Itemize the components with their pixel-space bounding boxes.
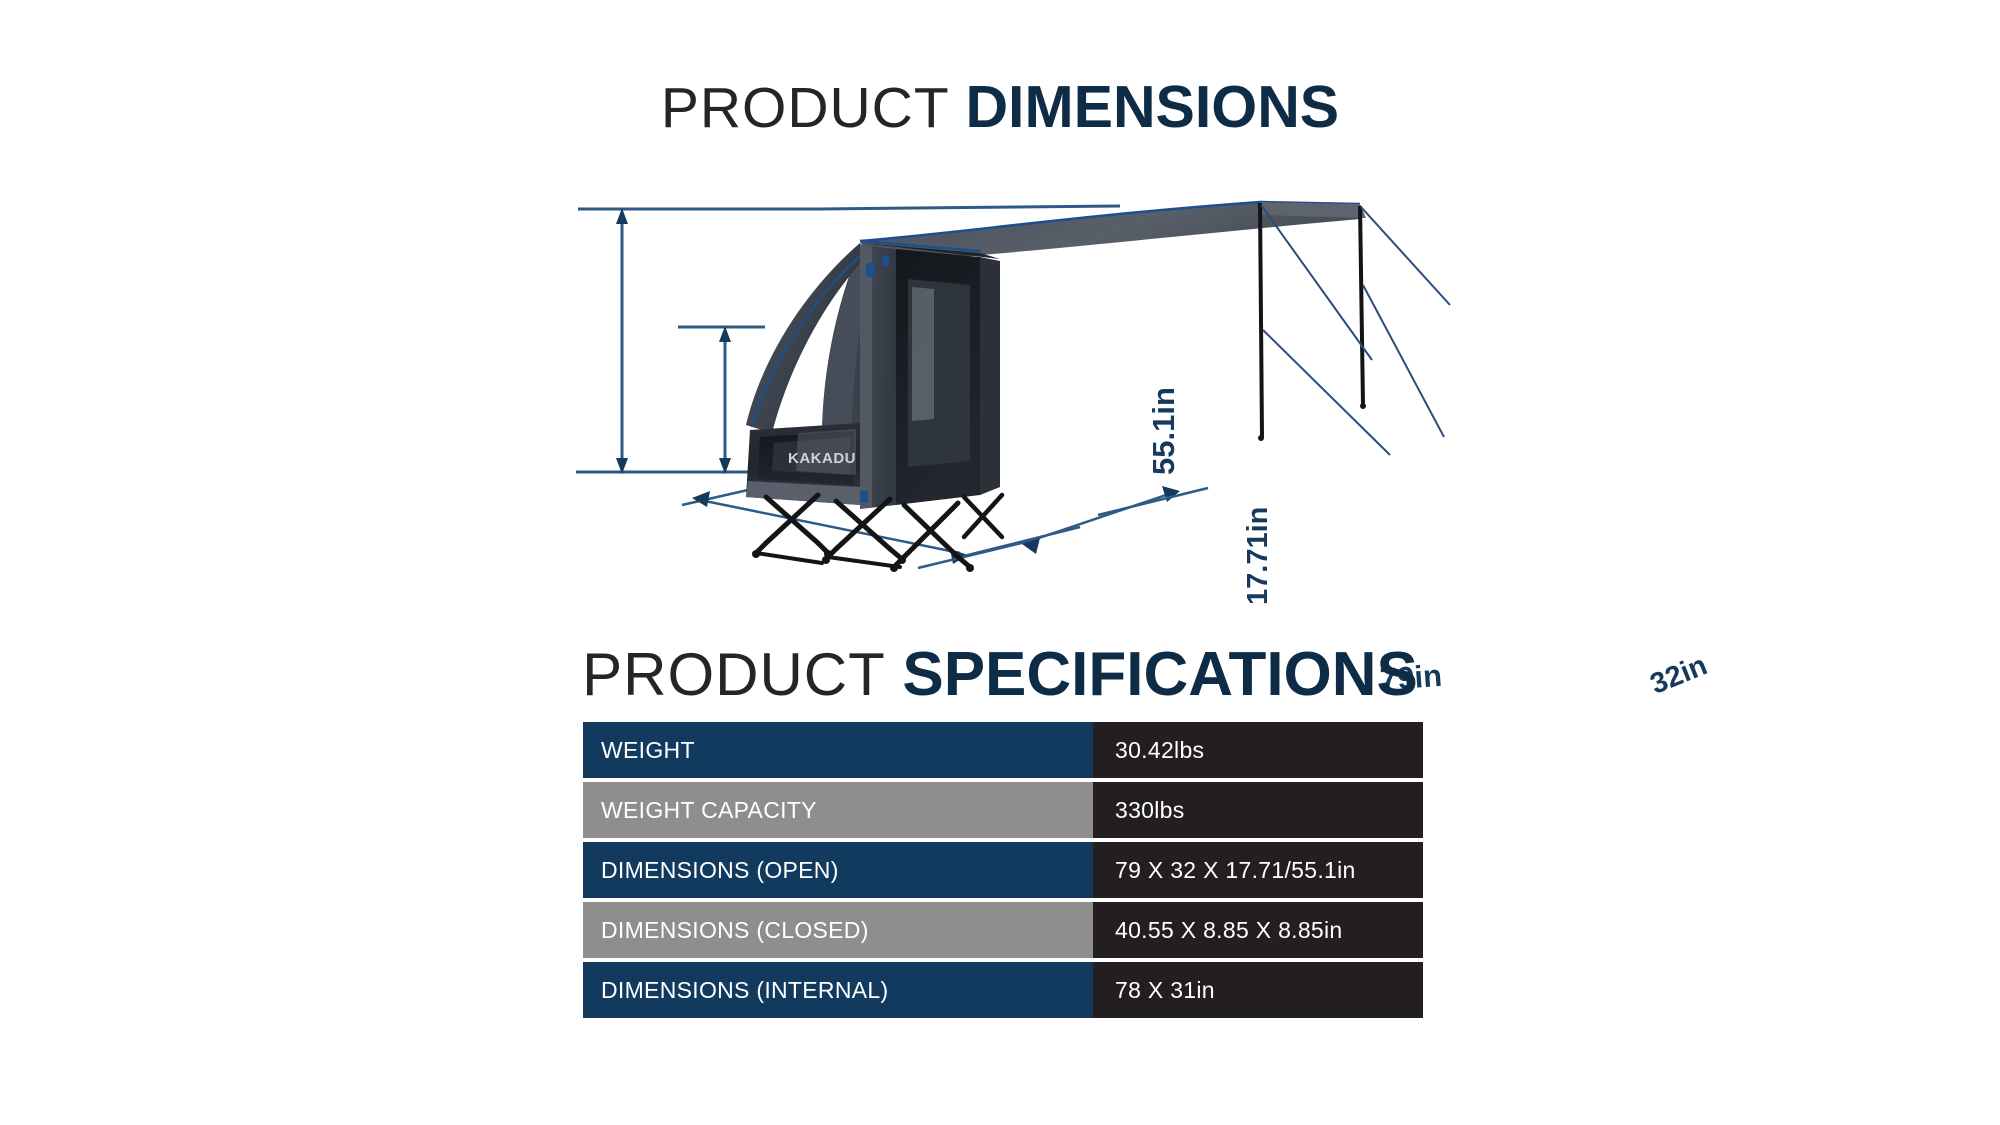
spec-value: 40.55 X 8.85 X 8.85in	[1093, 902, 1423, 958]
dimensions-title-bold: DIMENSIONS	[965, 74, 1339, 140]
product-dimension-diagram: KAKADU	[560, 175, 1460, 585]
spec-value: 79 X 32 X 17.71/55.1in	[1093, 842, 1423, 898]
spec-label: WEIGHT	[583, 722, 1093, 778]
diagram-svg: KAKADU	[560, 175, 1460, 585]
spec-label: DIMENSIONS (OPEN)	[583, 842, 1093, 898]
product-spec-sheet: PRODUCT DIMENSIONS	[0, 0, 2000, 1125]
brand-logo: KAKADU	[788, 450, 856, 467]
specifications-title-thin: PRODUCT	[582, 641, 902, 708]
dimensions-section-title: PRODUCT DIMENSIONS	[0, 78, 2000, 137]
spec-label: DIMENSIONS (INTERNAL)	[583, 962, 1093, 1018]
spec-value: 330lbs	[1093, 782, 1423, 838]
table-row: DIMENSIONS (INTERNAL) 78 X 31in	[583, 962, 1423, 1018]
specifications-title-bold: SPECIFICATIONS	[902, 640, 1418, 709]
specifications-section-title: PRODUCT SPECIFICATIONS	[0, 644, 2000, 706]
table-row: WEIGHT 30.42lbs	[583, 722, 1423, 778]
tent-entrance	[860, 241, 1000, 509]
dimensions-title-thin: PRODUCT	[661, 76, 966, 140]
dimension-label-height-cot: 17.71in	[1242, 507, 1275, 605]
spec-value: 78 X 31in	[1093, 962, 1423, 1018]
spec-label: WEIGHT CAPACITY	[583, 782, 1093, 838]
awning-poles	[1258, 203, 1366, 441]
specifications-table: WEIGHT 30.42lbs WEIGHT CAPACITY 330lbs D…	[583, 722, 1423, 1018]
guy-lines	[1261, 205, 1450, 455]
spec-value: 30.42lbs	[1093, 722, 1423, 778]
dimension-label-height-overall: 55.1in	[1146, 387, 1182, 475]
spec-label: DIMENSIONS (CLOSED)	[583, 902, 1093, 958]
table-row: DIMENSIONS (OPEN) 79 X 32 X 17.71/55.1in	[583, 842, 1423, 898]
table-row: WEIGHT CAPACITY 330lbs	[583, 782, 1423, 838]
table-row: DIMENSIONS (CLOSED) 40.55 X 8.85 X 8.85i…	[583, 902, 1423, 958]
